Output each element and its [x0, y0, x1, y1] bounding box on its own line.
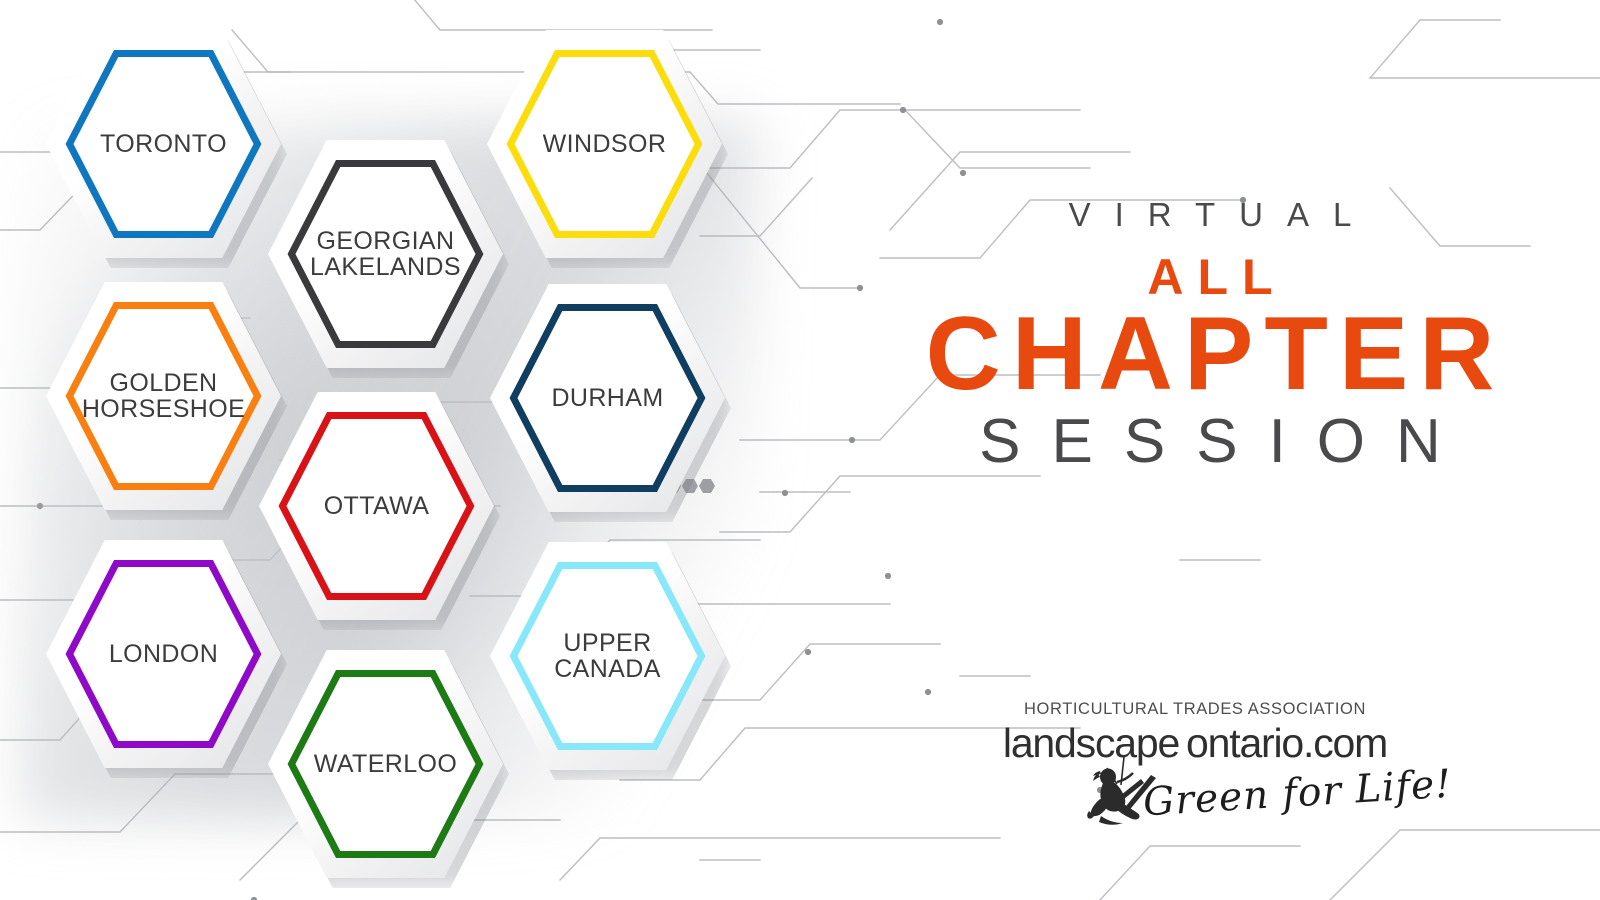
- event-title-block: VIRTUAL ALL CHAPTER SESSION: [860, 196, 1560, 477]
- hexagon-color-ring: [66, 302, 261, 490]
- chapter-hexagon-toronto[interactable]: TORONTO: [46, 30, 281, 258]
- chapter-hexagon-upper-canada[interactable]: UPPER CANADA: [490, 542, 725, 770]
- chapter-hexagon-durham[interactable]: DURHAM: [490, 284, 725, 512]
- chapter-hexagon-windsor[interactable]: WINDSOR: [487, 30, 722, 258]
- landscape-ontario-logo: HORTICULTURAL TRADES ASSOCIATION landsca…: [975, 700, 1415, 827]
- chapter-hexagon-georgian-lakelands[interactable]: GEORGIAN LAKELANDS: [268, 140, 503, 368]
- chapter-hexagon-golden-horseshoe[interactable]: GOLDEN HORSESHOE: [46, 282, 281, 510]
- title-virtual: VIRTUAL: [860, 196, 1560, 234]
- chapter-hexagon-waterloo[interactable]: WATERLOO: [268, 650, 503, 878]
- hexagon-color-ring: [279, 412, 474, 600]
- logo-association-line: HORTICULTURAL TRADES ASSOCIATION: [975, 700, 1415, 719]
- logo-wordmark: landscapeontario.com: [975, 720, 1415, 767]
- hexagon-color-ring: [288, 670, 483, 858]
- logo-tagline: Green for Life!: [1142, 762, 1453, 826]
- title-session: SESSION: [860, 406, 1560, 477]
- logo-tagline-row: Green for Life!: [975, 765, 1415, 827]
- hexagon-color-ring: [66, 560, 261, 748]
- hexagon-color-ring: [288, 160, 483, 348]
- hexagon-color-ring: [507, 50, 702, 238]
- chapter-hexagon-ottawa[interactable]: OTTAWA: [259, 392, 494, 620]
- hexagon-color-ring: [510, 304, 705, 492]
- logo-wordmark-ontario: ontario.com: [1186, 720, 1387, 766]
- hexagon-color-ring: [510, 562, 705, 750]
- hexagon-color-ring: [66, 50, 261, 238]
- slide-canvas: TORONTOGEORGIAN LAKELANDSWINDSORGOLDEN H…: [0, 0, 1600, 900]
- title-chapter: CHAPTER: [860, 300, 1560, 408]
- chapter-hexagon-london[interactable]: LONDON: [46, 540, 281, 768]
